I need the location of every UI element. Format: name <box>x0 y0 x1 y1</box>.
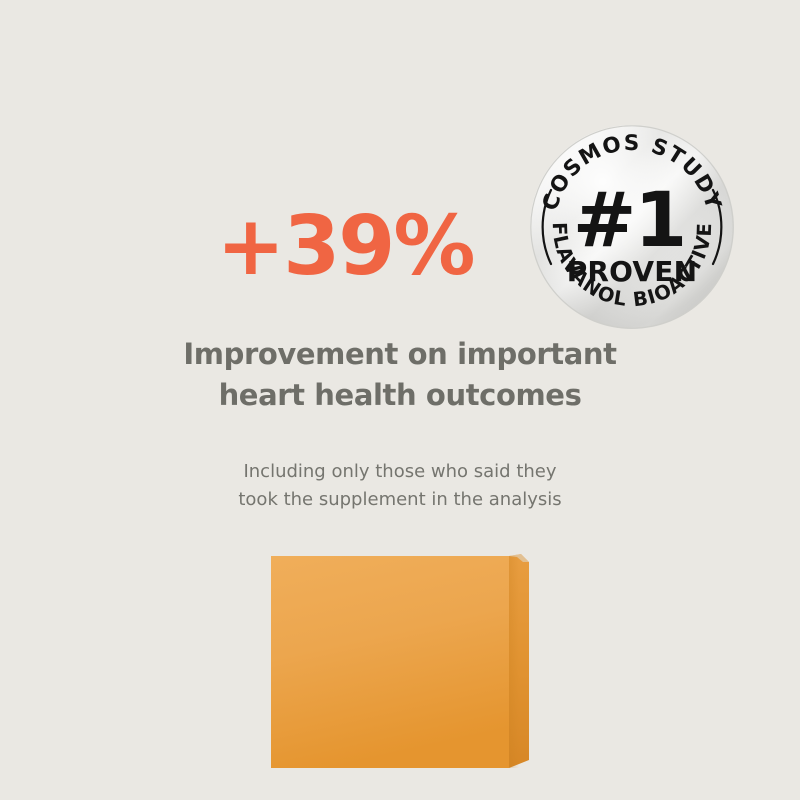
product-box-front-face <box>271 556 509 768</box>
product-box-graphic <box>271 554 529 768</box>
badge-center-text: PROVEN <box>567 255 698 288</box>
headline-line-2: heart health outcomes <box>0 375 800 416</box>
headline-line-1: Improvement on important <box>0 334 800 375</box>
badge-rank-text: #1 <box>573 175 686 264</box>
stat-value: +39% <box>217 206 474 288</box>
subcaption-line-1: Including only those who said they <box>0 458 800 486</box>
subcaption-line-2: took the supplement in the analysis <box>0 486 800 514</box>
sub-caption: Including only those who said they took … <box>0 458 800 514</box>
cosmos-study-seal-badge: COSMOS STUDY FLAVANOL BIOACTIVE #1 PROVE… <box>529 124 735 330</box>
page-title: Improvement on important heart health ou… <box>0 334 800 416</box>
product-box-edge-shadow <box>509 556 519 768</box>
promo-card: COSMOS STUDY FLAVANOL BIOACTIVE #1 PROVE… <box>0 0 800 800</box>
